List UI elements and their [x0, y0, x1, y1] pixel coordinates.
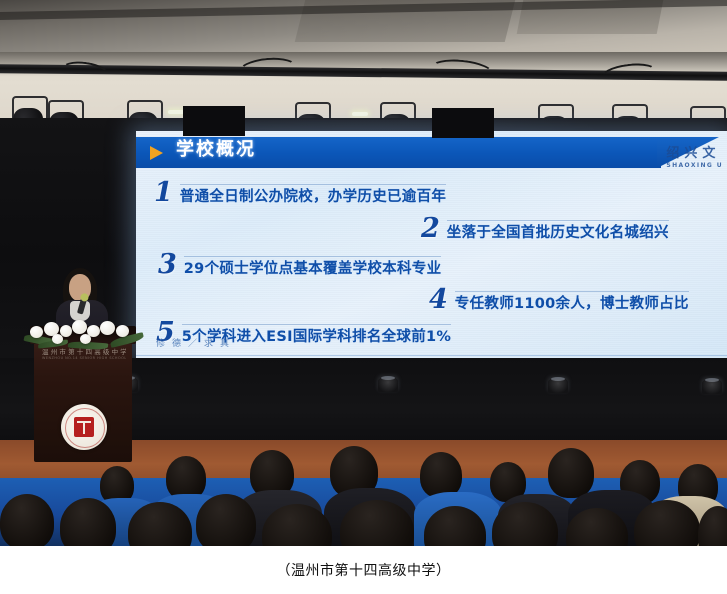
university-logo-en: SHAOXING U: [666, 162, 723, 169]
caption-text: （温州市第十四高级中学）: [277, 560, 451, 580]
slide-motto: 修德／求真: [156, 336, 236, 349]
white-flower-arrangement-icon: [24, 316, 144, 350]
audience-head: [196, 494, 256, 546]
bullet-number: 1: [154, 179, 173, 206]
audience-head: [0, 494, 54, 546]
podium-school-name-en: WENZHOU NO.14 SENIOR HIGH SCHOOL: [42, 356, 126, 360]
ceiling-lamp: [168, 110, 184, 114]
slide-footer-rule: [136, 355, 727, 356]
slide-bullet-list: 1 普通全日制公办院校，办学历史已逾百年 2 坐落于全国首批历史文化名城绍兴 3…: [136, 169, 727, 329]
stage-floor-uplight: [702, 380, 722, 394]
bullet-text: 普通全日制公办院校，办学历史已逾百年: [180, 184, 446, 207]
bullet-number: 4: [429, 286, 448, 313]
university-logo: 绍兴文 SHAOXING U: [666, 142, 723, 169]
seated-student-audience: [0, 442, 727, 546]
bullet-number: 2: [421, 215, 440, 242]
slide-title: 学校概况: [176, 135, 256, 161]
bullet-text: 专任教师1100余人，博士教师占比: [455, 291, 689, 314]
bullet-number: 3: [158, 251, 177, 278]
list-item: 2 坐落于全国首批历史文化名城绍兴: [421, 215, 669, 242]
play-triangle-icon: [150, 146, 163, 160]
event-photograph: 学校概况 绍兴文 SHAOXING U 1 普通全日制公办院校，办学历史已逾百年…: [0, 0, 727, 546]
university-logo-cn: 绍兴文: [666, 142, 723, 161]
speaker-occlusion: [183, 106, 245, 136]
stage-floor-uplight: [378, 378, 398, 392]
auditorium-ceiling: [0, 0, 727, 60]
list-item: 3 29个硕士学位点基本覆盖学校本科专业: [158, 251, 441, 278]
list-item: 1 普通全日制公办院校，办学历史已逾百年: [154, 179, 446, 206]
stage-floor-uplight: [548, 379, 568, 393]
figure-caption: （温州市第十四高级中学）: [0, 546, 727, 594]
bullet-text: 29个硕士学位点基本覆盖学校本科专业: [184, 256, 442, 279]
audience-head: [548, 448, 594, 498]
projected-slide: 学校概况 绍兴文 SHAOXING U 1 普通全日制公办院校，办学历史已逾百年…: [136, 131, 727, 359]
bullet-text: 坐落于全国首批历史文化名城绍兴: [447, 220, 669, 243]
speaker-occlusion: [432, 108, 494, 138]
ceiling-lamp: [352, 112, 368, 116]
list-item: 4 专任教师1100余人，博士教师占比: [429, 286, 689, 313]
